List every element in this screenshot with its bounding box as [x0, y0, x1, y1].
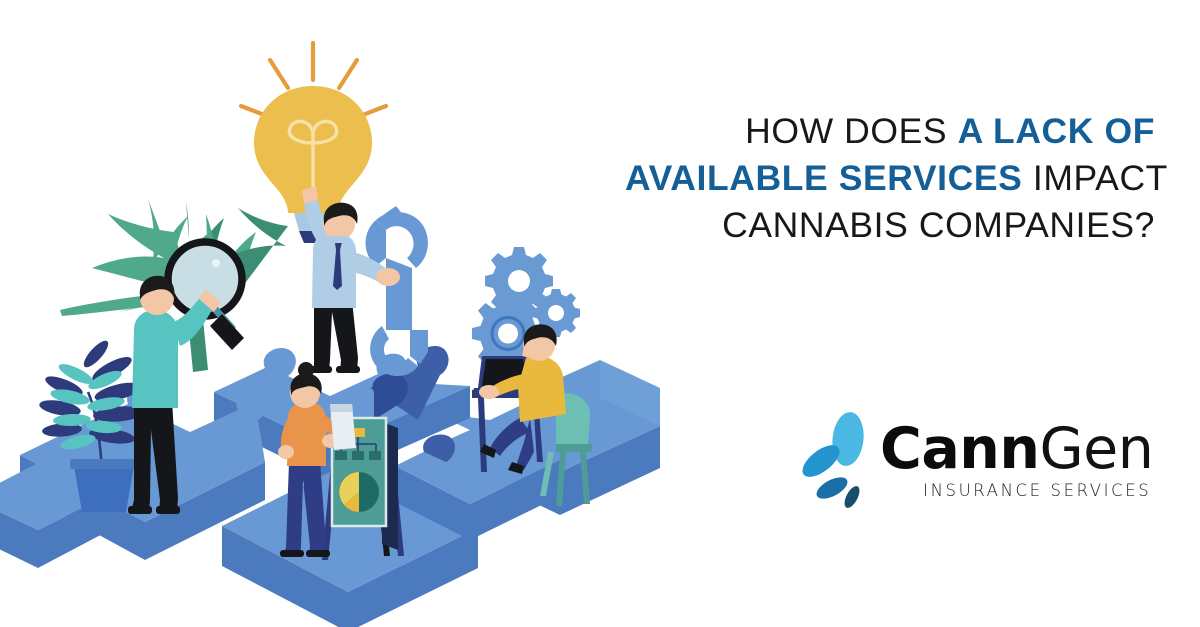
banner-root: HOW DOES A LACK OF AVAILABLE SERVICES IM… [0, 0, 1200, 627]
logo-text-block: CannGen INSURANCE SERVICES [880, 420, 1153, 500]
headline-line-1: HOW DOES A LACK OF [625, 108, 1155, 155]
page-title: HOW DOES A LACK OF AVAILABLE SERVICES IM… [625, 108, 1155, 249]
headline-line-2: AVAILABLE SERVICES IMPACT [625, 155, 1155, 202]
canngen-petal-mark [800, 405, 878, 515]
illustration-artwork [0, 0, 660, 627]
logo-wordmark-cann: Cann [880, 416, 1039, 482]
headline-plain-3: CANNABIS COMPANIES? [722, 205, 1155, 245]
logo-wordmark-gen: Gen [1039, 416, 1153, 482]
headline-plain-1: HOW DOES [745, 111, 958, 151]
canngen-logo[interactable]: CannGen INSURANCE SERVICES [800, 402, 1180, 517]
logo-wordmark: CannGen [880, 420, 1153, 478]
headline-accent-1: A LACK OF [958, 111, 1155, 151]
headline-line-3: CANNABIS COMPANIES? [625, 202, 1155, 249]
logo-tagline: INSURANCE SERVICES [923, 481, 1151, 500]
headline-plain-2: IMPACT [1022, 158, 1168, 198]
petal-bottom-dark [813, 472, 851, 502]
wrench-icon [366, 206, 429, 376]
headline-accent-2: AVAILABLE SERVICES [625, 158, 1022, 198]
